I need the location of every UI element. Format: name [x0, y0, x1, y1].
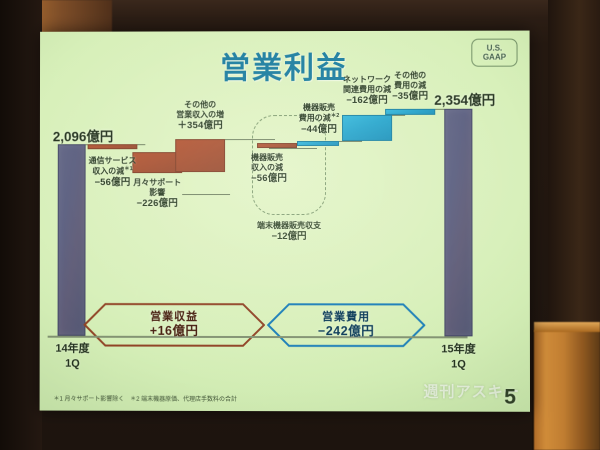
bar-equipment-sales-revenue-decrease [257, 143, 297, 148]
end-total-value: 2,354億円 [434, 89, 495, 109]
conference-room-photo: 営業利益 U.S. GAAP 端末機器販売収支 −12億円 [0, 0, 600, 450]
label-amount: −44億円 [288, 124, 350, 136]
x-category-end: 15年度 1Q [429, 342, 487, 372]
bar-equipment-sales-cost-decrease [297, 141, 339, 146]
label-amount: ＋354億円 [167, 120, 233, 132]
label-amount: −35億円 [381, 91, 439, 103]
label-line-1: その他の [167, 100, 233, 110]
revenue-amount: +16億円 [150, 324, 199, 339]
wall-left-dark [0, 0, 42, 450]
label-line-2: 営業収入の増 [167, 110, 233, 120]
summary-operating-expense: 営業費用 −242億円 [267, 303, 425, 347]
expense-title: 営業費用 [318, 311, 374, 324]
label-line-1: 通信サービス [81, 156, 145, 166]
label-footnote-marker: ＊1 [124, 166, 133, 172]
x-category-start: 14年度 1Q [44, 342, 102, 372]
equipment-sales-group-label: 端末機器販売収支 −12億円 [234, 221, 344, 244]
label-line-2: 費用の減 [299, 114, 331, 123]
label-amount: −56億円 [251, 173, 307, 185]
x-category-start-line2: 1Q [44, 356, 102, 371]
x-category-end-line1: 15年度 [429, 342, 487, 357]
label-line-2: 収入の減 [92, 167, 124, 176]
group-label-text: 端末機器販売収支 [234, 221, 344, 231]
bar-other-operating-revenue-increase [175, 139, 225, 172]
label-equipment-sales-revenue-decrease: 機器販売 収入の減 −56億円 [251, 153, 307, 185]
group-label-amount: −12億円 [234, 231, 344, 243]
summary-operating-revenue: 営業収益 +16億円 [83, 303, 265, 347]
label-footnote-marker: ＊2 [331, 113, 340, 119]
label-line-2: 収入の減 [251, 163, 307, 173]
projected-slide: 営業利益 U.S. GAAP 端末機器販売収支 −12億円 [40, 31, 530, 412]
label-line-1: 機器販売 [251, 153, 307, 163]
label-line-2: 費用の減 [381, 81, 439, 91]
x-category-end-line2: 1Q [429, 357, 487, 372]
label-equipment-sales-cost-decrease: 機器販売 費用の減＊2 −44億円 [288, 103, 350, 136]
expense-amount: −242億円 [318, 324, 374, 339]
start-total-value: 2,096億円 [53, 125, 113, 145]
expense-hexagon-text: 営業費用 −242億円 [318, 311, 374, 339]
bar-telecom-service-revenue-decrease [88, 144, 138, 149]
bar-other-cost-decrease [385, 109, 435, 115]
lectern-top-surface [534, 322, 600, 332]
label-monthly-support-impact: 月々サポート 影響 −226億円 [124, 178, 190, 210]
footnote-text: ＊1 月々サポート影響除く ＊2 端末機器原価、代理店手数料の合計 [54, 394, 237, 403]
label-other-operating-revenue-increase: その他の 営業収入の増 ＋354億円 [167, 100, 233, 132]
label-other-cost-decrease: その他の 費用の減 −35億円 [381, 71, 439, 103]
waterfall-chart: 端末機器販売収支 −12億円 2,096億円 [40, 31, 530, 412]
bar-end-total [444, 109, 472, 337]
label-line-2: 影響 [124, 188, 190, 198]
wooden-lectern [534, 330, 600, 450]
revenue-hexagon-text: 営業収益 +16億円 [150, 311, 199, 339]
slide-page-number: 5 [504, 386, 516, 410]
revenue-title: 営業収益 [150, 311, 199, 324]
label-amount: −226億円 [124, 198, 190, 210]
label-line-1: その他の [381, 71, 439, 81]
label-line-1: 月々サポート [124, 178, 190, 188]
x-category-start-line1: 14年度 [44, 342, 102, 357]
